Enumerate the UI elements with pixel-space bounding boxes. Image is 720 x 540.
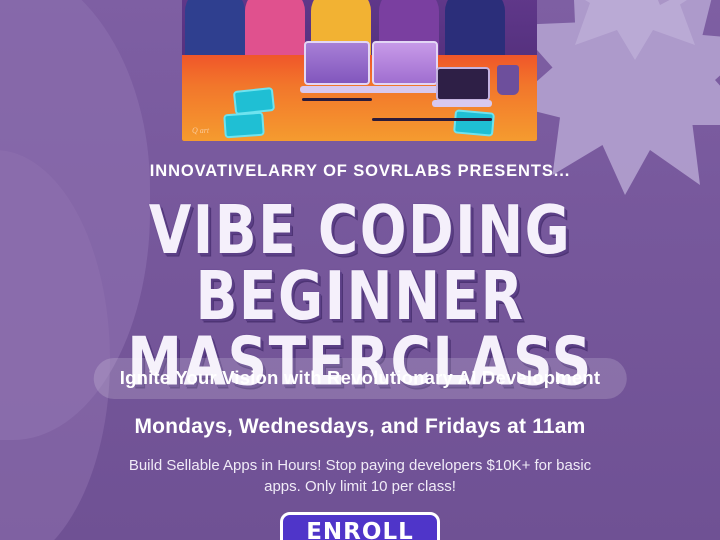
cable-icon bbox=[302, 98, 372, 101]
title-line-1: VIBE CODING BEGINNER bbox=[149, 191, 572, 335]
schedule-text: Mondays, Wednesdays, and Fridays at 11am bbox=[0, 415, 720, 439]
hero-illustration: Q art bbox=[182, 0, 537, 141]
tablet-device-icon bbox=[453, 109, 495, 136]
presenter-line: INNOVATIVELARRY OF SOVRLABS PRESENTS... bbox=[0, 162, 720, 181]
enroll-button[interactable]: ENROLL bbox=[280, 512, 440, 540]
tablet-device-icon bbox=[223, 112, 265, 139]
description-text: Build Sellable Apps in Hours! Stop payin… bbox=[110, 455, 610, 498]
cable-icon bbox=[372, 118, 492, 121]
artist-signature: Q art bbox=[192, 126, 209, 135]
enroll-button-label: ENROLL bbox=[306, 519, 414, 540]
subtitle-badge: Ignite Your Vision with Revolutionary AI… bbox=[94, 358, 627, 399]
tablet-device-icon bbox=[233, 87, 275, 115]
poster-canvas: Q art INNOVATIVELARRY OF SOVRLABS PRESEN… bbox=[0, 0, 720, 540]
laptop-icon bbox=[368, 41, 442, 93]
laptop-icon bbox=[300, 41, 374, 93]
laptop-icon bbox=[432, 67, 492, 107]
cup-icon bbox=[497, 65, 519, 95]
